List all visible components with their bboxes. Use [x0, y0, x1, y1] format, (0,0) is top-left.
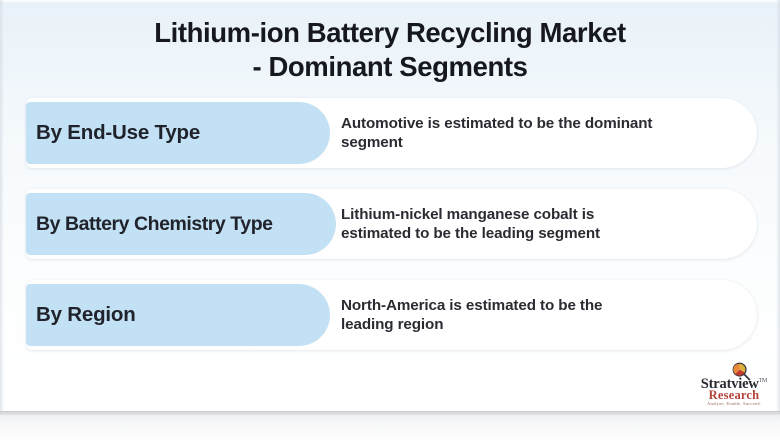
segment-label: By Region — [36, 303, 136, 327]
segment-description: Automotive is estimated to be the domina… — [341, 98, 751, 168]
segment-label: By End-Use Type — [36, 121, 200, 145]
segment-description-line-2: segment — [341, 133, 751, 153]
segment-description: North-America is estimated to be the lea… — [341, 280, 751, 350]
bottom-bar — [0, 411, 780, 440]
segment-label: By Battery Chemistry Type — [36, 212, 273, 236]
infographic-canvas: Lithium-ion Battery Recycling Market - D… — [0, 0, 780, 440]
segment-description-line-2: estimated to be the leading segment — [341, 224, 751, 244]
segment-description-line-2: leading region — [341, 315, 751, 335]
segment-pill: By Region — [26, 284, 330, 346]
segment-row-end-use-type[interactable]: By End-Use Type Automotive is estimated … — [26, 98, 757, 168]
logo-trademark: TM — [759, 378, 768, 384]
logo-tagline: Analyze. Enable. Succeed. — [693, 401, 775, 407]
segment-pill: By End-Use Type — [26, 102, 330, 164]
logo-subtext: Research — [693, 388, 775, 402]
segment-pill: By Battery Chemistry Type — [26, 193, 336, 255]
segment-row-region[interactable]: By Region North-America is estimated to … — [26, 280, 757, 350]
segment-description: Lithium-nickel manganese cobalt is estim… — [341, 189, 751, 259]
segment-row-battery-chemistry-type[interactable]: By Battery Chemistry Type Lithium-nickel… — [26, 189, 757, 259]
brand-logo[interactable]: StratviewTM Research Analyze. Enable. Su… — [693, 364, 775, 410]
segment-list: By End-Use Type Automotive is estimated … — [0, 0, 780, 411]
segment-description-line-1: Automotive is estimated to be the domina… — [341, 114, 751, 134]
segment-description-line-1: Lithium-nickel manganese cobalt is — [341, 205, 751, 225]
segment-description-line-1: North-America is estimated to be the — [341, 296, 751, 316]
